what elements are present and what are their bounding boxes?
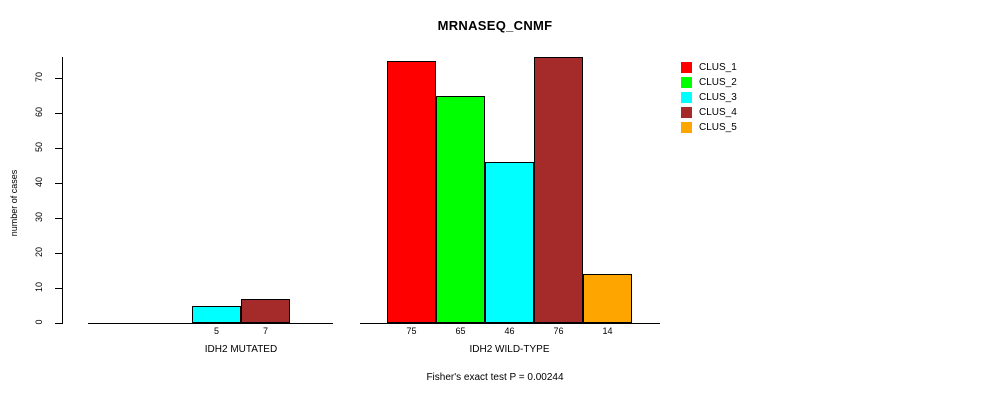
y-axis-tick-label: 0	[34, 309, 44, 335]
bar-value-label: 65	[436, 326, 485, 336]
y-axis-tick-mark	[55, 323, 62, 324]
y-axis-tick-mark	[55, 218, 62, 219]
group-axis-label: IDH2 WILD-TYPE	[387, 344, 632, 355]
bar-value-label: 14	[583, 326, 632, 336]
legend-item: CLUS_4	[681, 105, 737, 120]
bar-clus_1	[387, 61, 436, 324]
y-axis-tick-label: 20	[34, 239, 44, 265]
bar-clus_4	[241, 299, 290, 324]
bar-value-label: 76	[534, 326, 583, 336]
legend-color-swatch-icon	[681, 122, 692, 133]
legend-item: CLUS_2	[681, 75, 737, 90]
bar-chart-figure: MRNASEQ_CNMF number of cases 01020304050…	[0, 0, 990, 400]
legend-color-swatch-icon	[681, 107, 692, 118]
x-axis-line-group-1	[88, 323, 333, 324]
legend-item-label: CLUS_1	[699, 62, 737, 73]
y-axis-tick-mark	[55, 78, 62, 79]
legend-item: CLUS_5	[681, 120, 737, 135]
legend-item: CLUS_3	[681, 90, 737, 105]
bar-clus_3	[192, 306, 241, 324]
y-axis-line	[62, 57, 63, 324]
y-axis-tick-mark	[55, 183, 62, 184]
legend-item-label: CLUS_5	[699, 122, 737, 133]
x-axis-line-group-2	[360, 323, 660, 324]
bar-clus_4	[534, 57, 583, 323]
bar-clus_2	[436, 96, 485, 324]
group-axis-label: IDH2 MUTATED	[192, 344, 290, 355]
legend-item: CLUS_1	[681, 60, 737, 75]
y-axis-tick-mark	[55, 148, 62, 149]
y-axis-tick-label: 50	[34, 134, 44, 160]
bar-value-label: 46	[485, 326, 534, 336]
legend-color-swatch-icon	[681, 92, 692, 103]
y-axis-tick-label: 40	[34, 169, 44, 195]
y-axis-label: number of cases	[9, 143, 19, 263]
bar-value-label: 75	[387, 326, 436, 336]
y-axis-tick-mark	[55, 113, 62, 114]
y-axis-tick-label: 60	[34, 99, 44, 125]
y-axis-tick-label: 10	[34, 274, 44, 300]
bar-clus_5	[583, 274, 632, 323]
chart-title: MRNASEQ_CNMF	[0, 18, 990, 33]
bar-value-label: 7	[241, 326, 290, 336]
bar-clus_3	[485, 162, 534, 323]
y-axis-tick-label: 30	[34, 204, 44, 230]
y-axis-tick-label: 70	[34, 64, 44, 90]
legend: CLUS_1CLUS_2CLUS_3CLUS_4CLUS_5	[681, 60, 737, 135]
statistical-test-annotation: Fisher's exact test P = 0.00244	[0, 372, 990, 383]
y-axis-tick-mark	[55, 253, 62, 254]
legend-item-label: CLUS_3	[699, 92, 737, 103]
legend-item-label: CLUS_4	[699, 107, 737, 118]
y-axis-tick-mark	[55, 288, 62, 289]
legend-color-swatch-icon	[681, 77, 692, 88]
bar-value-label: 5	[192, 326, 241, 336]
legend-color-swatch-icon	[681, 62, 692, 73]
legend-item-label: CLUS_2	[699, 77, 737, 88]
